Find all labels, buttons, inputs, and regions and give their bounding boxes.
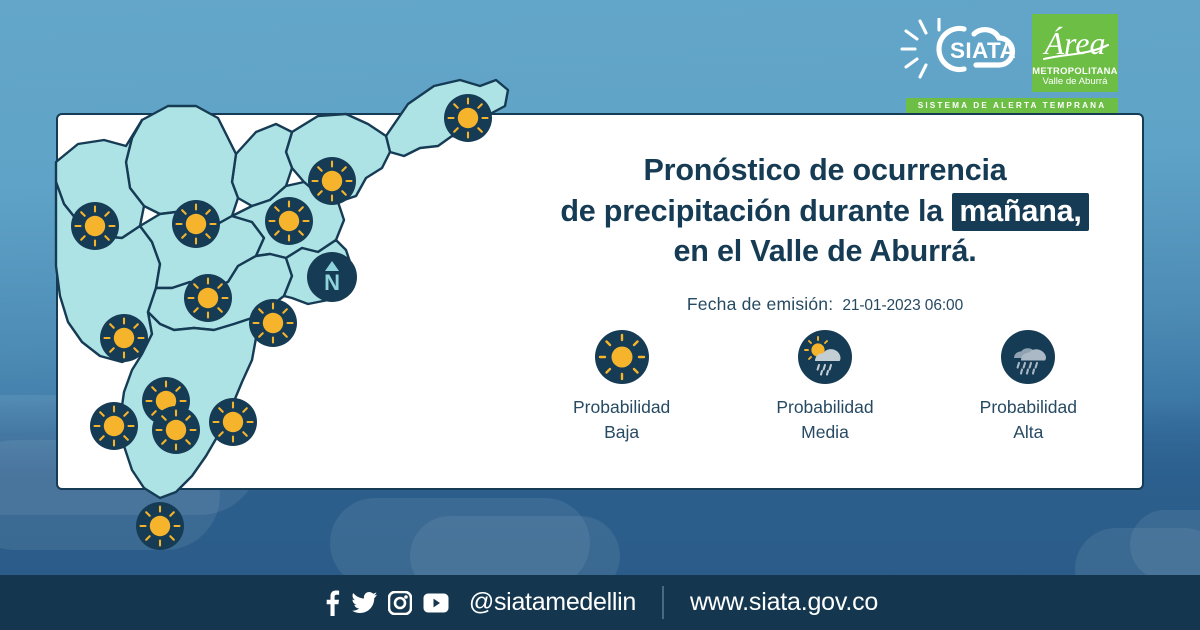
siata-wordmark: SIATA (950, 38, 1016, 63)
legend-item-baja[interactable]: Probabilidad Baja (537, 330, 707, 445)
legend-label-alta: Probabilidad Alta (980, 395, 1077, 445)
logo-group: SIATA Área METROPOLITANA Valle de Aburrá… (900, 14, 1125, 112)
social-icon-group (322, 590, 449, 616)
social-handle[interactable]: @siatamedellin (469, 588, 636, 617)
compass-north-icon: N (307, 252, 357, 302)
footer-divider (662, 586, 664, 619)
twitter-icon[interactable] (352, 592, 377, 614)
map-marker-sun[interactable] (249, 299, 297, 347)
siata-logo: SIATA (900, 18, 1028, 80)
probability-legend: Probabilidad Baja Probabilidad Media (520, 330, 1130, 445)
website-url[interactable]: www.siata.gov.co (690, 588, 878, 617)
map-marker-sun[interactable] (444, 94, 492, 142)
map-marker-sun[interactable] (90, 402, 138, 450)
compass-label: N (324, 270, 340, 295)
map-marker-sun[interactable] (71, 202, 119, 250)
youtube-icon[interactable] (423, 593, 449, 613)
issue-date-row: Fecha de emisión: 21-01-2023 06:00 (520, 294, 1130, 315)
footer-bar: @siatamedellin www.siata.gov.co (0, 575, 1200, 630)
page-title: Pronóstico de ocurrencia de precipitació… (520, 150, 1130, 272)
legend-item-media[interactable]: Probabilidad Media (740, 330, 910, 445)
valle-de-aburra-map: N (56, 36, 526, 576)
map-marker-sun[interactable] (152, 406, 200, 454)
issue-date-label: Fecha de emisión: (687, 294, 833, 315)
instagram-icon[interactable] (388, 591, 412, 615)
area-metropolitana-line1: METROPOLITANA (1032, 66, 1118, 76)
area-script-text: Área (1042, 25, 1105, 61)
map-marker-sun[interactable] (265, 197, 313, 245)
title-line-1: Pronóstico de ocurrencia (520, 150, 1130, 191)
forecast-panel: Pronóstico de ocurrencia de precipitació… (520, 150, 1130, 315)
rain-cloud-icon (1001, 330, 1055, 384)
area-metropolitana-line2: Valle de Aburrá (1043, 76, 1108, 87)
map-marker-sun[interactable] (136, 502, 184, 550)
sun-icon (595, 330, 649, 384)
decorative-cloud (1130, 510, 1200, 580)
facebook-icon[interactable] (322, 590, 341, 616)
map-marker-sun[interactable] (209, 398, 257, 446)
sun-rain-cloud-icon (798, 330, 852, 384)
legend-item-alta[interactable]: Probabilidad Alta (943, 330, 1113, 445)
title-line-3: en el Valle de Aburrá. (520, 231, 1130, 272)
title-line-2-text: de precipitación durante la (560, 194, 943, 228)
map-marker-sun[interactable] (184, 274, 232, 322)
issue-date-value: 21-01-2023 06:00 (842, 297, 963, 315)
area-metropolitana-logo: Área METROPOLITANA Valle de Aburrá (1032, 14, 1118, 92)
legend-label-media: Probabilidad Media (776, 395, 873, 445)
legend-label-baja: Probabilidad Baja (573, 395, 670, 445)
title-highlight: mañana, (952, 193, 1088, 231)
map-marker-sun[interactable] (308, 157, 356, 205)
map-marker-sun[interactable] (100, 314, 148, 362)
title-line-2: de precipitación durante la mañana, (520, 191, 1130, 232)
map-marker-sun[interactable] (172, 200, 220, 248)
siata-tagline: SISTEMA DE ALERTA TEMPRANA (906, 98, 1118, 113)
area-script-mark: Área (1038, 18, 1112, 66)
